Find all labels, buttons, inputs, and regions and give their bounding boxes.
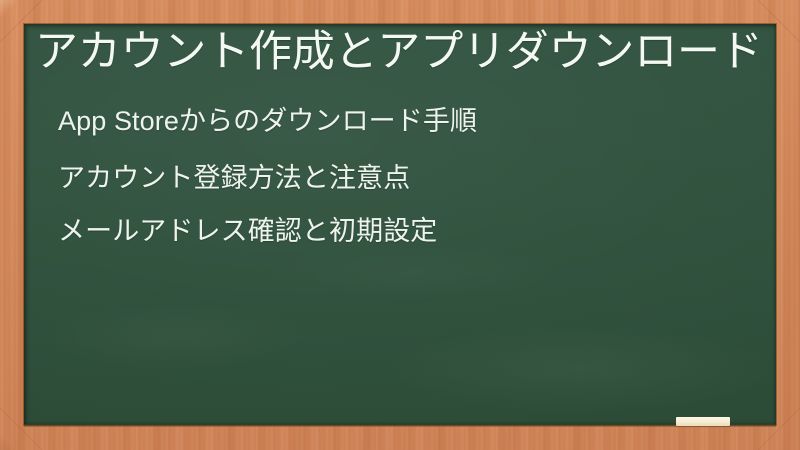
chalkboard-surface: アカウント作成とアプリダウンロード App Storeからのダウンロード手順 ア…	[24, 24, 776, 425]
bullet-item: App Storeからのダウンロード手順	[58, 106, 758, 137]
chalk-stick-icon	[676, 417, 730, 426]
slide-title: アカウント作成とアプリダウンロード	[35, 28, 761, 76]
bullet-item: メールアドレス確認と初期設定	[58, 216, 758, 247]
bullet-list: App Storeからのダウンロード手順 アカウント登録方法と注意点 メールアド…	[58, 106, 758, 247]
board-ledge-seam	[24, 424, 776, 427]
bullet-item: アカウント登録方法と注意点	[58, 163, 758, 194]
chalkboard-slide: アカウント作成とアプリダウンロード App Storeからのダウンロード手順 ア…	[0, 0, 800, 450]
